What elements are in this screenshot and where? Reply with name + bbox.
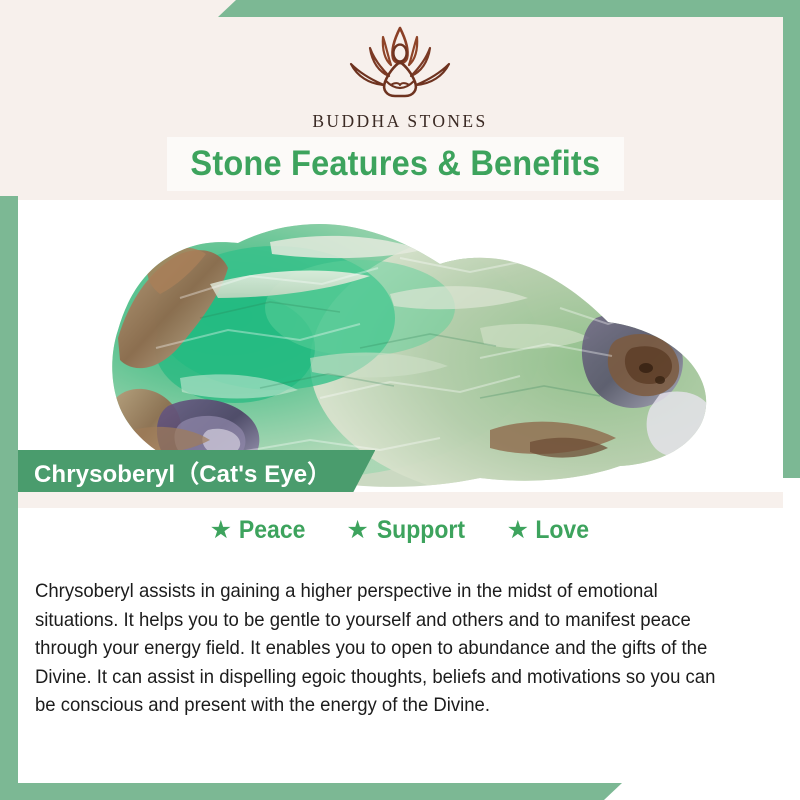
lotus-meditation-icon [339, 22, 461, 106]
info-panel-top-strip [18, 492, 783, 508]
title-banner: Stone Features & Benefits [167, 137, 624, 191]
benefit-item: ★ Love [507, 516, 592, 545]
benefit-label: Peace [239, 516, 306, 545]
stone-description: Chrysoberyl assists in gaining a higher … [35, 577, 732, 720]
brand-name: BUDDHA STONES [312, 111, 487, 132]
page-title: Stone Features & Benefits [191, 144, 601, 184]
benefits-row: ★ Peace ★ Support ★ Love [18, 516, 783, 545]
stone-name-label: Chrysoberyl（Cat's Eye） [18, 450, 375, 492]
brand-logo: BUDDHA STONES [0, 22, 800, 132]
frame-bottom-band [0, 783, 622, 800]
header-corner-notch [0, 0, 236, 18]
star-icon: ★ [210, 518, 232, 543]
star-icon: ★ [346, 518, 368, 543]
frame-left-band [0, 196, 18, 784]
benefit-label: Love [535, 516, 589, 545]
benefit-item: ★ Support [346, 516, 468, 545]
star-icon: ★ [507, 518, 529, 543]
info-panel: ★ Peace ★ Support ★ Love Chrysoberyl ass… [18, 492, 783, 783]
stone-name-text: Chrysoberyl（Cat's Eye） [34, 454, 331, 489]
stone-info-poster: BUDDHA STONES Stone Features & Benefits [0, 0, 800, 800]
benefit-item: ★ Peace [210, 516, 309, 545]
benefit-label: Support [377, 516, 465, 545]
